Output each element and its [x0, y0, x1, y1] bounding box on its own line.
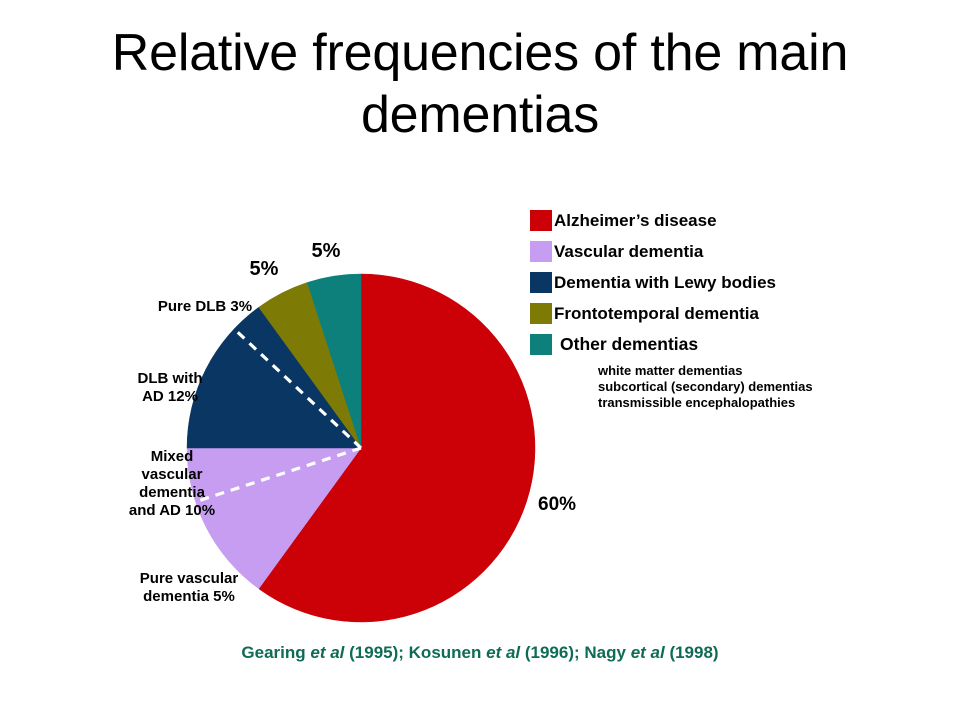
legend-swatch [530, 303, 552, 324]
slide-canvas: Relative frequencies of the main dementi… [0, 0, 960, 720]
legend-item-label: Other dementias [560, 334, 698, 355]
legend-swatch [530, 272, 552, 293]
pie-label-alzheimers-pct: 60% [538, 496, 608, 514]
citation-segment: (1998) [665, 643, 719, 662]
citation-text: Gearing et al (1995); Kosunen et al (199… [0, 642, 960, 663]
legend: Alzheimer’s diseaseVascular dementiaDeme… [530, 210, 950, 411]
legend-sub-item: transmissible encephalopathies [598, 395, 950, 411]
legend-sub-item: white matter dementias [598, 363, 950, 379]
citation-et-al: et al [486, 643, 520, 662]
legend-swatch [530, 334, 552, 355]
legend-item-label: Alzheimer’s disease [554, 210, 717, 231]
legend-swatch [530, 241, 552, 262]
legend-item[interactable]: Frontotemporal dementia [530, 303, 950, 325]
legend-swatch [530, 210, 552, 231]
legend-item[interactable]: Alzheimer’s disease [530, 210, 950, 232]
legend-item[interactable]: Vascular dementia [530, 241, 950, 263]
legend-sublist: white matter dementiassubcortical (secon… [598, 363, 950, 411]
pie-label-dlb-with-ad: DLB with AD 12% [110, 370, 230, 406]
legend-item-label: Frontotemporal dementia [554, 303, 759, 324]
pie-label-frontotemporal-pct: 5% [234, 258, 294, 280]
citation-et-al: et al [631, 643, 665, 662]
citation-et-al: et al [310, 643, 344, 662]
legend-item-label: Vascular dementia [554, 241, 703, 262]
pie-label-pure-vascular: Pure vascular dementia 5% [114, 570, 264, 606]
legend-item[interactable]: Other dementias [530, 334, 950, 356]
pie-label-other-dementias-pct: 5% [296, 240, 356, 262]
pie-label-mixed-vascular-and-ad: Mixed vascular dementia and AD 10% [112, 448, 232, 520]
citation-segment: Gearing [241, 643, 310, 662]
legend-item[interactable]: Dementia with Lewy bodies [530, 272, 950, 294]
citation-segment: (1995); Kosunen [344, 643, 486, 662]
pie-label-pure-dlb: Pure DLB 3% [120, 298, 290, 316]
legend-item-label: Dementia with Lewy bodies [554, 272, 776, 293]
citation-segment: (1996); Nagy [520, 643, 631, 662]
legend-sub-item: subcortical (secondary) dementias [598, 379, 950, 395]
